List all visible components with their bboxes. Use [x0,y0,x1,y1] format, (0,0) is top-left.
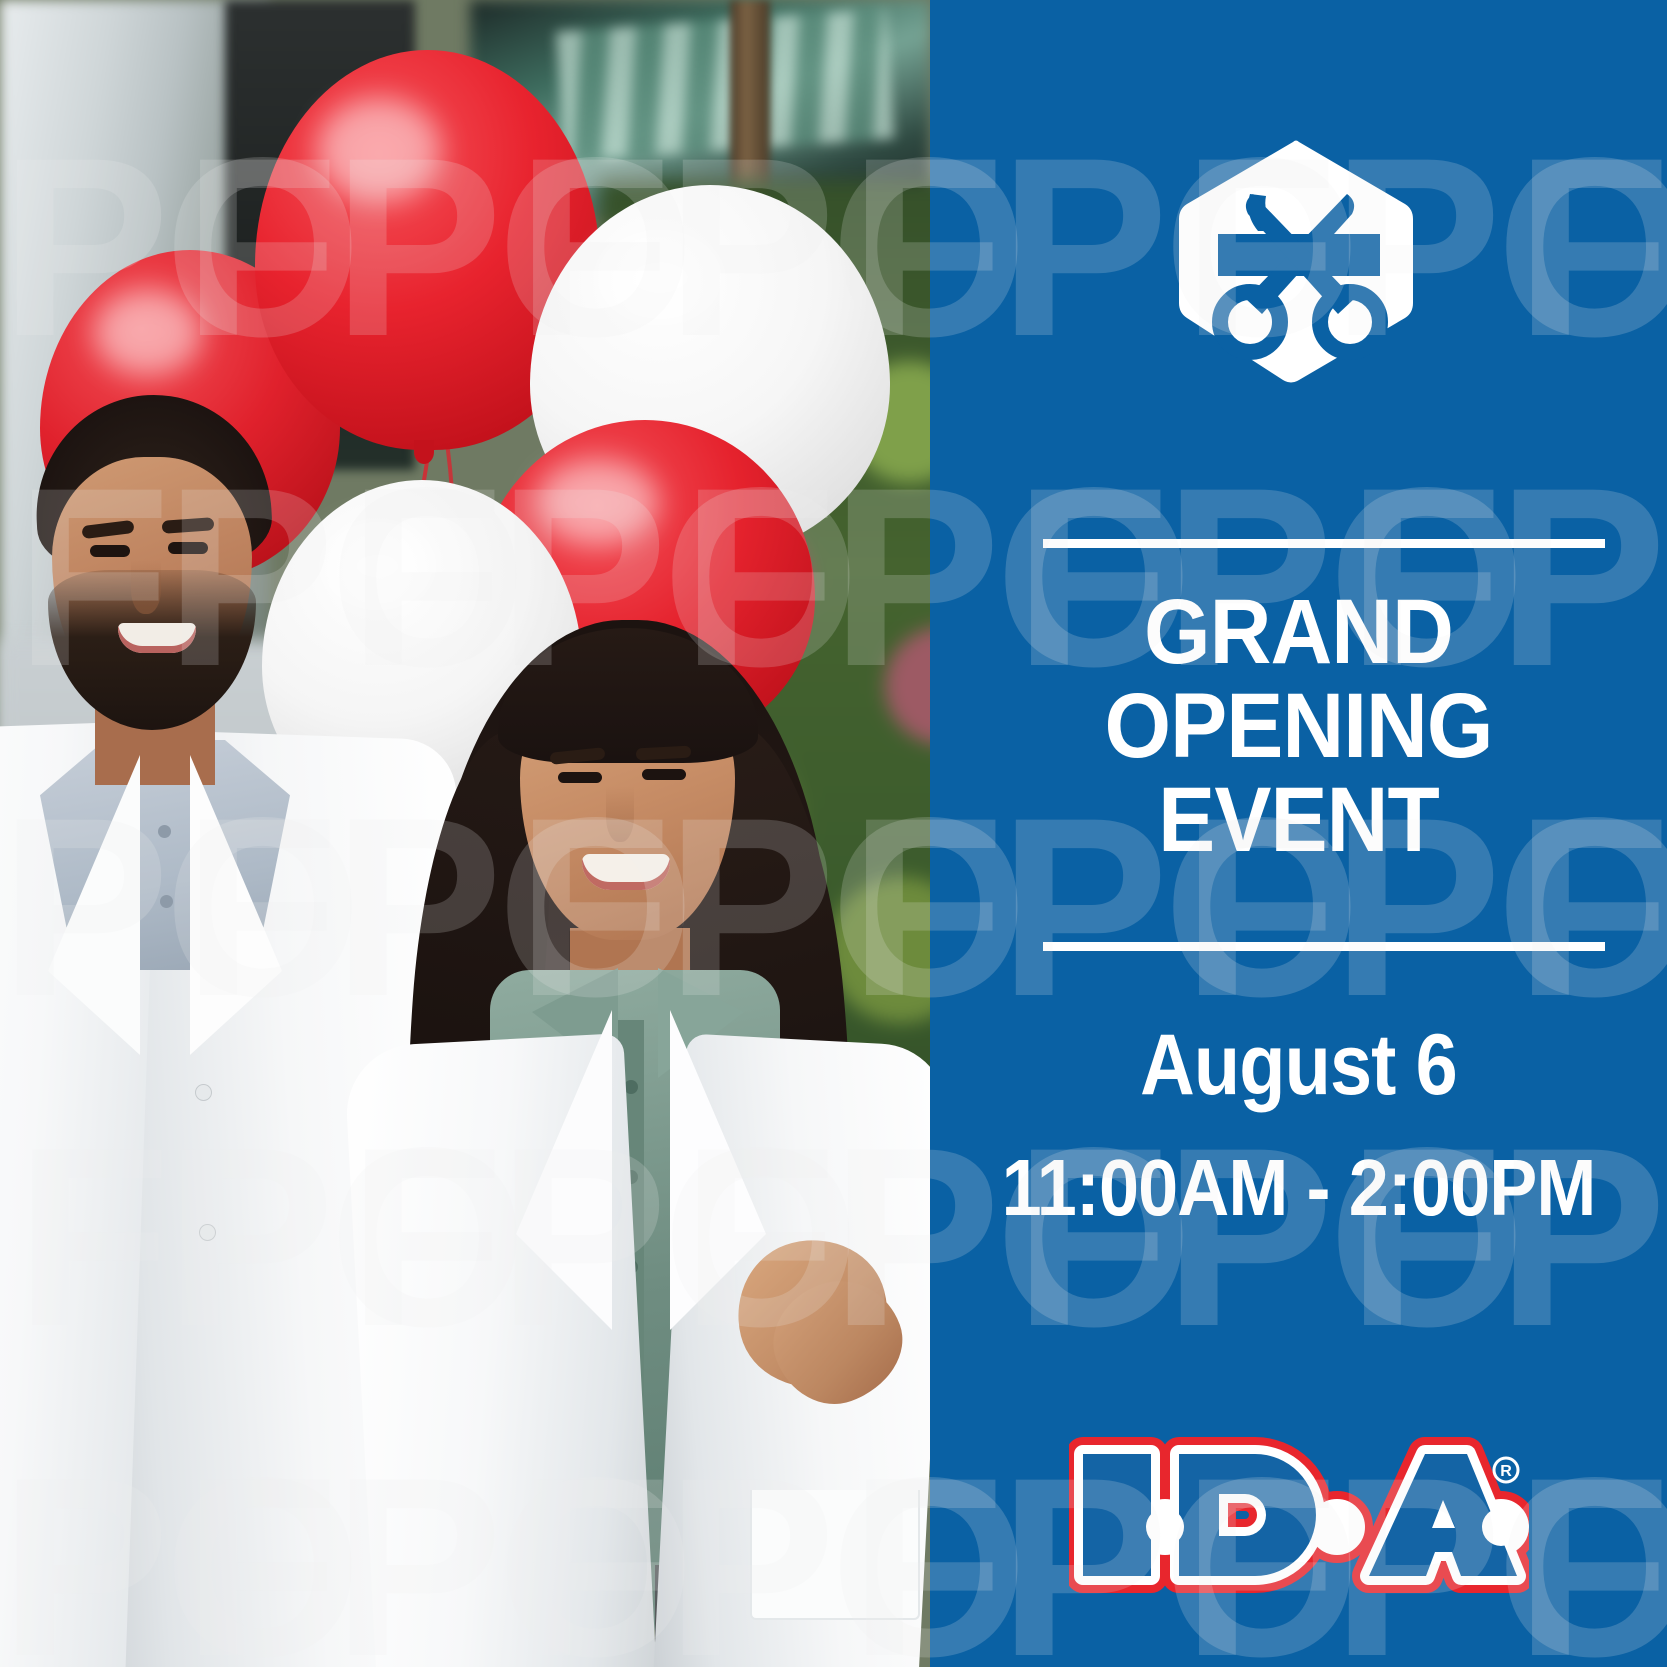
ida-logo: R [1069,1430,1529,1600]
ribbon-cutting-scissors-hexagon-icon [1174,136,1424,386]
coat-button [200,1225,215,1240]
headline-line-1: GRAND [956,586,1641,680]
divider-top [1043,539,1605,548]
page-title: GRAND OPENING EVENT [956,586,1641,867]
divider-bottom [1043,942,1605,951]
nose [606,786,634,842]
pharmacist-woman [370,610,930,1667]
headline-line-2: OPENING [956,680,1641,774]
registered-trademark-icon: R [1494,1458,1518,1482]
hair-fringe [498,628,758,763]
smiling-mouth [582,854,670,890]
eye [90,545,130,557]
awning-stripes [556,9,894,162]
shirt-button [160,895,173,908]
smiling-mouth [118,623,196,653]
coat-button [196,1085,211,1100]
svg-text:R: R [1500,1463,1512,1480]
nose [131,560,161,614]
eye [642,769,686,780]
event-date: August 6 [974,1022,1623,1108]
headline-line-3: EVENT [956,774,1641,868]
grand-opening-poster: GRAND OPENING EVENT August 6 11:00AM - 2… [0,0,1667,1667]
lab-coat-pocket [750,1490,920,1620]
shirt-button [158,825,171,838]
event-time: 11:00AM - 2:00PM [967,1148,1630,1228]
info-panel: GRAND OPENING EVENT August 6 11:00AM - 2… [930,0,1667,1667]
event-photo [0,0,930,1667]
eye [168,542,208,554]
eye [558,772,602,783]
